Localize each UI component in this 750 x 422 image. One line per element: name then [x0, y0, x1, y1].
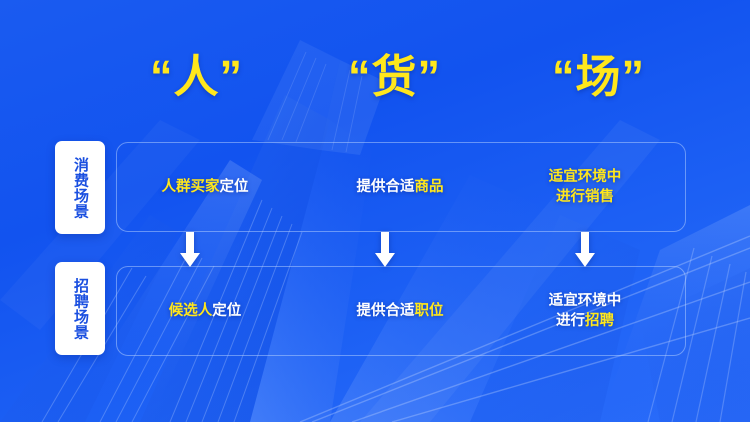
column-headers: “人” “货” “场” [0, 48, 750, 110]
arrow-down-icon-huo [374, 232, 396, 268]
cell-consumer-ren: 人群买家定位 [162, 177, 249, 197]
text-run: 提供合适 [357, 179, 415, 195]
text-run: 适宜环境中 [549, 293, 622, 309]
side-tab-recruit[interactable]: 招聘场景 [55, 262, 105, 355]
text-run: 职位 [415, 303, 444, 319]
text-run: 商品 [415, 179, 444, 195]
text-run: 人群买家 [162, 179, 220, 195]
side-tab-consumer-label: 消费场景 [69, 157, 91, 219]
cell-recruit-huo: 提供合适职位 [357, 301, 444, 321]
column-header-ren: “人” [150, 48, 243, 106]
text-run: 进行 [556, 313, 585, 329]
text-run: 定位 [220, 179, 249, 195]
cell-consumer-huo: 提供合适商品 [357, 177, 444, 197]
column-header-huo: “货” [348, 48, 441, 106]
text-run: 定位 [212, 303, 241, 319]
text-run: 提供合适 [357, 303, 415, 319]
text-run: 进行 [556, 189, 585, 205]
side-tab-consumer[interactable]: 消费场景 [55, 141, 105, 234]
slide-canvas: “人” “货” “场” 消费场景 招聘场景 人群买家定位 提供合适商品 适宜环境… [0, 0, 750, 422]
text-run: 适宜环境中 [549, 169, 622, 185]
text-run: 销售 [585, 189, 614, 205]
arrow-down-icon-ren [179, 232, 201, 268]
text-run: 候选人 [169, 303, 213, 319]
text-run: 招聘 [585, 313, 614, 329]
cell-consumer-chang: 适宜环境中进行销售 [549, 167, 622, 207]
cell-recruit-ren: 候选人定位 [169, 301, 242, 321]
column-header-chang: “场” [552, 48, 645, 106]
cell-recruit-chang: 适宜环境中进行招聘 [549, 291, 622, 331]
arrow-down-icon-chang [574, 232, 596, 268]
side-tab-recruit-label: 招聘场景 [69, 278, 91, 340]
